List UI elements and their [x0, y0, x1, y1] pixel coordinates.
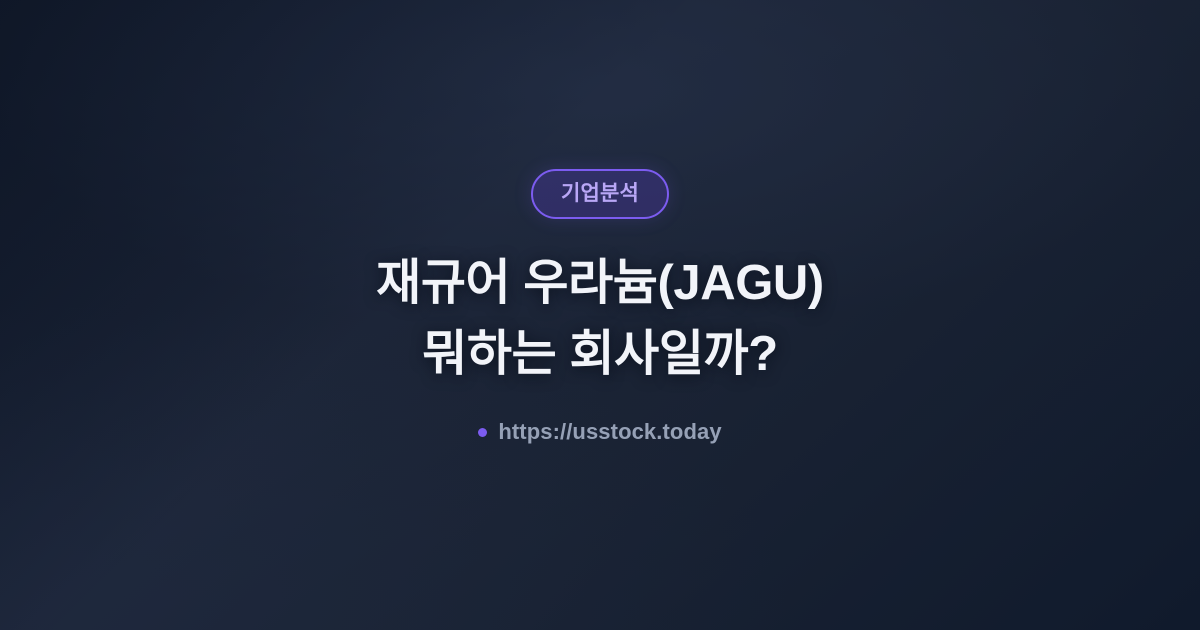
category-badge-label: 기업분석 [561, 183, 639, 204]
og-card: 기업분석 재규어 우라늄(JAGU) 뭐하는 회사일까? https://uss… [0, 0, 1200, 630]
page-title: 재규어 우라늄(JAGU) 뭐하는 회사일까? [376, 248, 824, 391]
category-badge: 기업분석 [531, 169, 669, 219]
card-content: 기업분석 재규어 우라늄(JAGU) 뭐하는 회사일까? https://uss… [0, 169, 1200, 444]
site-url-text: https://usstock.today [498, 421, 721, 443]
page-title-line-2: 뭐하는 회사일까? [376, 319, 824, 390]
site-url-row: https://usstock.today [478, 421, 721, 443]
dot-icon [478, 428, 487, 437]
page-title-line-1: 재규어 우라늄(JAGU) [376, 248, 824, 319]
